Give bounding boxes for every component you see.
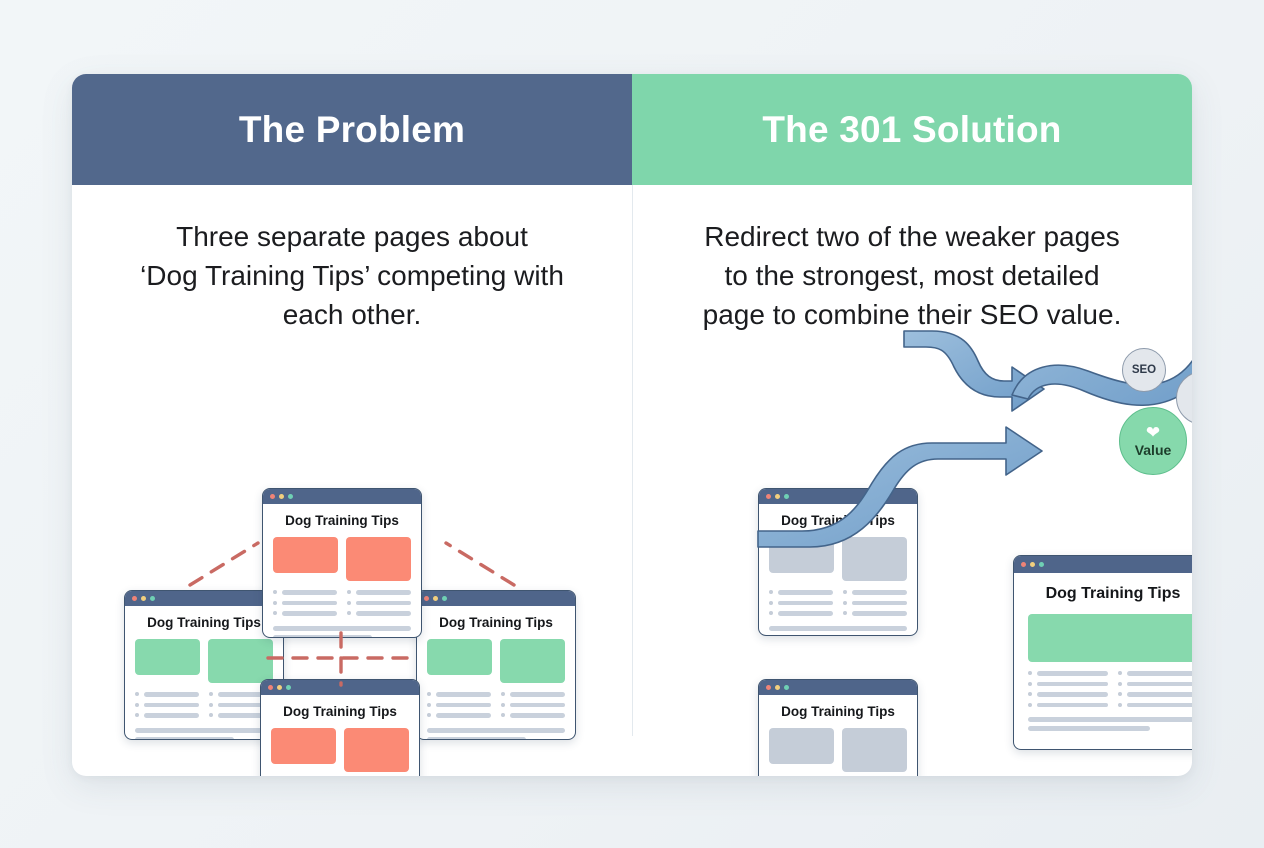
maximize-dot-icon	[286, 685, 291, 690]
page-title: Dog Training Tips	[769, 513, 907, 528]
content-blocks	[769, 728, 907, 772]
text-bar	[356, 601, 411, 606]
page-title: Dog Training Tips	[135, 615, 273, 630]
text-column	[843, 590, 907, 622]
list-item	[1118, 671, 1192, 676]
text-bar	[510, 713, 565, 718]
list-item	[501, 703, 565, 708]
column-problem-body: Three separate pages about ‘Dog Training…	[72, 185, 632, 776]
close-dot-icon	[1021, 562, 1026, 567]
maximize-dot-icon	[784, 685, 789, 690]
text-bar	[356, 590, 411, 595]
list-item	[347, 601, 411, 606]
text-columns	[135, 692, 273, 724]
text-bar	[427, 728, 565, 733]
text-bar	[282, 590, 337, 595]
list-item	[843, 611, 907, 616]
text-column	[501, 692, 565, 724]
text-columns	[1028, 671, 1192, 713]
list-item	[1028, 703, 1108, 708]
minimize-dot-icon	[775, 685, 780, 690]
minimize-dot-icon	[279, 494, 284, 499]
list-item	[1118, 692, 1192, 697]
close-dot-icon	[766, 494, 771, 499]
bullet-icon	[501, 692, 505, 696]
text-bar	[135, 737, 234, 741]
bullet-icon	[209, 713, 213, 717]
window-titlebar	[759, 680, 917, 695]
window-content: Dog Training Tips	[263, 504, 421, 638]
page-title: Dog Training Tips	[427, 615, 565, 630]
bullet-icon	[1028, 682, 1032, 686]
list-item	[1118, 703, 1192, 708]
problem-page-top[interactable]: Dog Training Tips	[262, 488, 422, 638]
minimize-dot-icon	[141, 596, 146, 601]
list-item	[1118, 682, 1192, 687]
text-bar	[436, 703, 491, 708]
list-item	[347, 611, 411, 616]
text-bar	[436, 713, 491, 718]
page-title: Dog Training Tips	[769, 704, 907, 719]
minimize-dot-icon	[1030, 562, 1035, 567]
content-blocks	[135, 639, 273, 683]
text-bar	[144, 713, 199, 718]
text-column	[347, 590, 411, 622]
list-item	[843, 601, 907, 606]
text-bar	[282, 611, 337, 616]
column-divider	[632, 185, 633, 736]
content-block	[208, 639, 273, 683]
bar-chart-icon	[1190, 387, 1192, 409]
bullet-icon	[501, 713, 505, 717]
minimize-dot-icon	[775, 494, 780, 499]
content-block	[344, 728, 409, 772]
window-titlebar	[1014, 556, 1192, 573]
list-item	[347, 590, 411, 595]
close-dot-icon	[424, 596, 429, 601]
bullet-icon	[209, 692, 213, 696]
content-blocks	[427, 639, 565, 683]
bullet-icon	[843, 590, 847, 594]
text-bar	[510, 703, 565, 708]
page-title: Dog Training Tips	[1028, 585, 1192, 603]
bullet-icon	[347, 611, 351, 615]
list-item	[769, 601, 833, 606]
text-bar	[144, 703, 199, 708]
text-bar	[769, 626, 907, 631]
list-item	[273, 590, 337, 595]
list-item	[273, 601, 337, 606]
redirect-arrow-top	[904, 331, 1044, 411]
list-item	[501, 713, 565, 718]
close-dot-icon	[270, 494, 275, 499]
window-titlebar	[417, 591, 575, 606]
text-bar	[1037, 671, 1108, 676]
maximize-dot-icon	[150, 596, 155, 601]
bullet-icon	[347, 590, 351, 594]
text-column	[769, 590, 833, 622]
value-badge: ❤ Value	[1119, 407, 1187, 475]
text-bar	[778, 601, 833, 606]
text-bar	[1028, 717, 1192, 722]
maximize-dot-icon	[442, 596, 447, 601]
text-bar	[427, 737, 526, 741]
bullet-icon	[1118, 692, 1122, 696]
content-block	[1028, 614, 1192, 662]
column-solution: The 301 Solution Redirect two of the wea…	[632, 74, 1192, 776]
content-block	[427, 639, 492, 675]
text-columns	[427, 692, 565, 724]
content-block	[769, 728, 834, 764]
text-bar	[852, 611, 907, 616]
bullet-icon	[843, 601, 847, 605]
minimize-dot-icon	[277, 685, 282, 690]
text-columns	[769, 590, 907, 622]
text-bar	[144, 692, 199, 697]
bullet-icon	[209, 703, 213, 707]
text-bar	[135, 728, 273, 733]
text-bar	[1037, 692, 1108, 697]
text-column	[273, 590, 337, 622]
bullet-icon	[135, 692, 139, 696]
list-item	[501, 692, 565, 697]
list-item	[135, 692, 199, 697]
bullet-icon	[273, 611, 277, 615]
list-item	[273, 611, 337, 616]
close-dot-icon	[132, 596, 137, 601]
text-bar	[1127, 671, 1192, 676]
list-item	[769, 590, 833, 595]
bullet-icon	[1118, 682, 1122, 686]
list-item	[769, 611, 833, 616]
list-item	[135, 713, 199, 718]
problem-page-bottom[interactable]: Dog Training Tips	[260, 679, 420, 776]
text-bar	[1127, 703, 1192, 708]
heart-icon: ❤	[1146, 424, 1160, 441]
list-item	[135, 703, 199, 708]
bullet-icon	[427, 713, 431, 717]
destination-page[interactable]: Dog Training Tips	[1013, 555, 1192, 750]
bullet-icon	[135, 703, 139, 707]
seo-badge-label: SEO	[1132, 364, 1156, 376]
text-column	[1118, 671, 1192, 713]
text-column	[1028, 671, 1108, 713]
text-bar	[282, 601, 337, 606]
content-blocks	[1028, 614, 1192, 662]
bullet-icon	[273, 601, 277, 605]
text-bar	[1037, 682, 1108, 687]
text-bar	[273, 626, 411, 631]
text-bar	[778, 590, 833, 595]
text-bar	[1127, 682, 1192, 687]
page-title: Dog Training Tips	[271, 704, 409, 719]
window-titlebar	[759, 489, 917, 504]
text-bar	[1037, 703, 1108, 708]
list-item	[1028, 671, 1108, 676]
text-bar	[852, 601, 907, 606]
content-block	[842, 537, 907, 581]
seo-badge: SEO	[1122, 348, 1166, 392]
content-blocks	[271, 728, 409, 772]
text-bar	[852, 590, 907, 595]
text-bar	[769, 635, 868, 637]
text-columns	[273, 590, 411, 622]
bullet-icon	[273, 590, 277, 594]
window-content: Dog Training Tips	[1014, 573, 1192, 743]
window-titlebar	[263, 489, 421, 504]
content-block	[500, 639, 565, 683]
text-bar	[1127, 692, 1192, 697]
list-item	[427, 692, 491, 697]
window-content: Dog Training Tips	[261, 695, 419, 776]
bullet-icon	[1118, 671, 1122, 675]
maximize-dot-icon	[1039, 562, 1044, 567]
bullet-icon	[769, 601, 773, 605]
content-block	[842, 728, 907, 772]
bullet-icon	[501, 703, 505, 707]
text-bar	[356, 611, 411, 616]
column-problem: The Problem Three separate pages about ‘…	[72, 74, 632, 776]
bullet-icon	[1028, 671, 1032, 675]
maximize-dot-icon	[288, 494, 293, 499]
content-block	[769, 537, 834, 573]
content-block	[346, 537, 411, 581]
list-item	[843, 590, 907, 595]
content-block	[135, 639, 200, 675]
text-bar	[1028, 726, 1150, 731]
bullet-icon	[1118, 703, 1122, 707]
list-item	[427, 703, 491, 708]
content-blocks	[769, 537, 907, 581]
weak-page-top[interactable]: Dog Training Tips	[758, 488, 918, 636]
window-content: Dog Training Tips	[759, 504, 917, 636]
value-badge-label: Value	[1135, 442, 1172, 458]
column-solution-body: Redirect two of the weaker pages to the …	[632, 185, 1192, 776]
bullet-icon	[769, 611, 773, 615]
column-problem-header: The Problem	[72, 74, 632, 185]
bullet-icon	[427, 692, 431, 696]
list-item	[1028, 682, 1108, 687]
weak-page-bottom[interactable]: Dog Training Tips	[758, 679, 918, 776]
bullet-icon	[1028, 703, 1032, 707]
window-titlebar	[125, 591, 283, 606]
problem-description: Three separate pages about ‘Dog Training…	[72, 217, 632, 334]
list-item	[1028, 692, 1108, 697]
problem-page-right[interactable]: Dog Training Tips	[416, 590, 576, 740]
bullet-icon	[427, 703, 431, 707]
window-content: Dog Training Tips	[759, 695, 917, 776]
close-dot-icon	[268, 685, 273, 690]
column-solution-header: The 301 Solution	[632, 74, 1192, 185]
content-block	[273, 537, 338, 573]
text-bar	[436, 692, 491, 697]
text-bar	[778, 611, 833, 616]
bullet-icon	[135, 713, 139, 717]
solution-description: Redirect two of the weaker pages to the …	[632, 217, 1192, 334]
content-block	[271, 728, 336, 764]
text-column	[135, 692, 199, 724]
text-bar	[273, 635, 372, 639]
list-item	[427, 713, 491, 718]
bullet-icon	[347, 601, 351, 605]
close-dot-icon	[766, 685, 771, 690]
content-blocks	[273, 537, 411, 581]
infographic-card: The Problem Three separate pages about ‘…	[72, 74, 1192, 776]
page-title: Dog Training Tips	[273, 513, 411, 528]
bullet-icon	[1028, 692, 1032, 696]
text-bar	[510, 692, 565, 697]
text-column	[427, 692, 491, 724]
window-titlebar	[261, 680, 419, 695]
bullet-icon	[843, 611, 847, 615]
maximize-dot-icon	[784, 494, 789, 499]
bullet-icon	[769, 590, 773, 594]
window-content: Dog Training Tips	[417, 606, 575, 740]
metrics-badge	[1176, 371, 1192, 425]
minimize-dot-icon	[433, 596, 438, 601]
